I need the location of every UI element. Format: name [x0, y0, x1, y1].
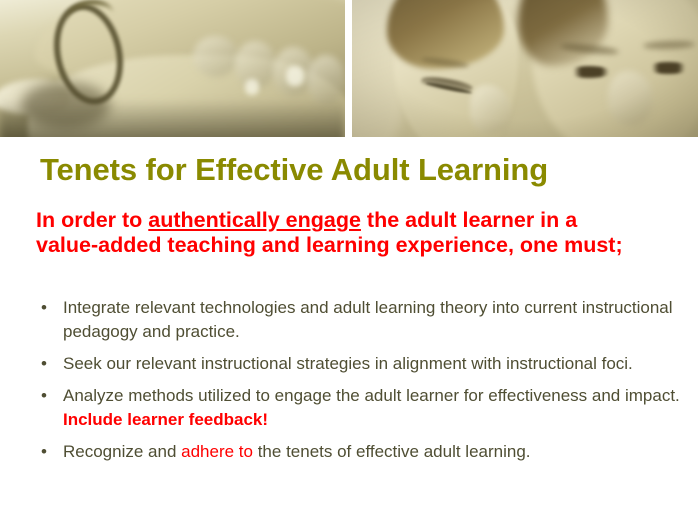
list-item: •Seek our relevant instructional strateg… [36, 352, 684, 376]
faces-photo [352, 0, 698, 137]
list-item-text: Recognize and [63, 442, 181, 461]
lead-text-part1: In order to [36, 208, 148, 232]
list-item: •Recognize and adhere to the tenets of e… [36, 440, 684, 464]
lead-paragraph: In order to authentically engage the adu… [36, 208, 626, 258]
bullet-list: •Integrate relevant technologies and adu… [36, 296, 684, 472]
header-image-band [0, 0, 698, 137]
list-item-tail: the tenets of effective adult learning. [253, 442, 531, 461]
list-item-text: Integrate relevant technologies and adul… [63, 298, 673, 341]
slide-canvas: Tenets for Effective Adult Learning In o… [0, 0, 698, 523]
list-item-highlight: adhere to [181, 442, 253, 461]
finger-gap-highlight [286, 66, 303, 87]
finger-gap-highlight [245, 79, 259, 94]
list-item: •Analyze methods utilized to engage the … [36, 384, 684, 432]
list-item: •Integrate relevant technologies and adu… [36, 296, 684, 344]
hands-photo [0, 0, 345, 137]
knuckle-shape [307, 55, 345, 104]
bullet-marker: • [41, 296, 47, 320]
bullet-marker: • [41, 352, 47, 376]
list-item-text: Seek our relevant instructional strategi… [63, 354, 633, 373]
list-item-text: Analyze methods utilized to engage the a… [63, 386, 680, 405]
knuckle-shape [193, 36, 238, 77]
photo-shadow [0, 99, 345, 137]
list-item-highlight-bold: Include learner feedback! [63, 410, 268, 429]
bullet-marker: • [41, 384, 47, 408]
bullet-marker: • [41, 440, 47, 464]
photo-vignette [352, 0, 698, 137]
slide-title: Tenets for Effective Adult Learning [40, 152, 548, 188]
lead-underlined-phrase: authentically engage [148, 208, 361, 232]
